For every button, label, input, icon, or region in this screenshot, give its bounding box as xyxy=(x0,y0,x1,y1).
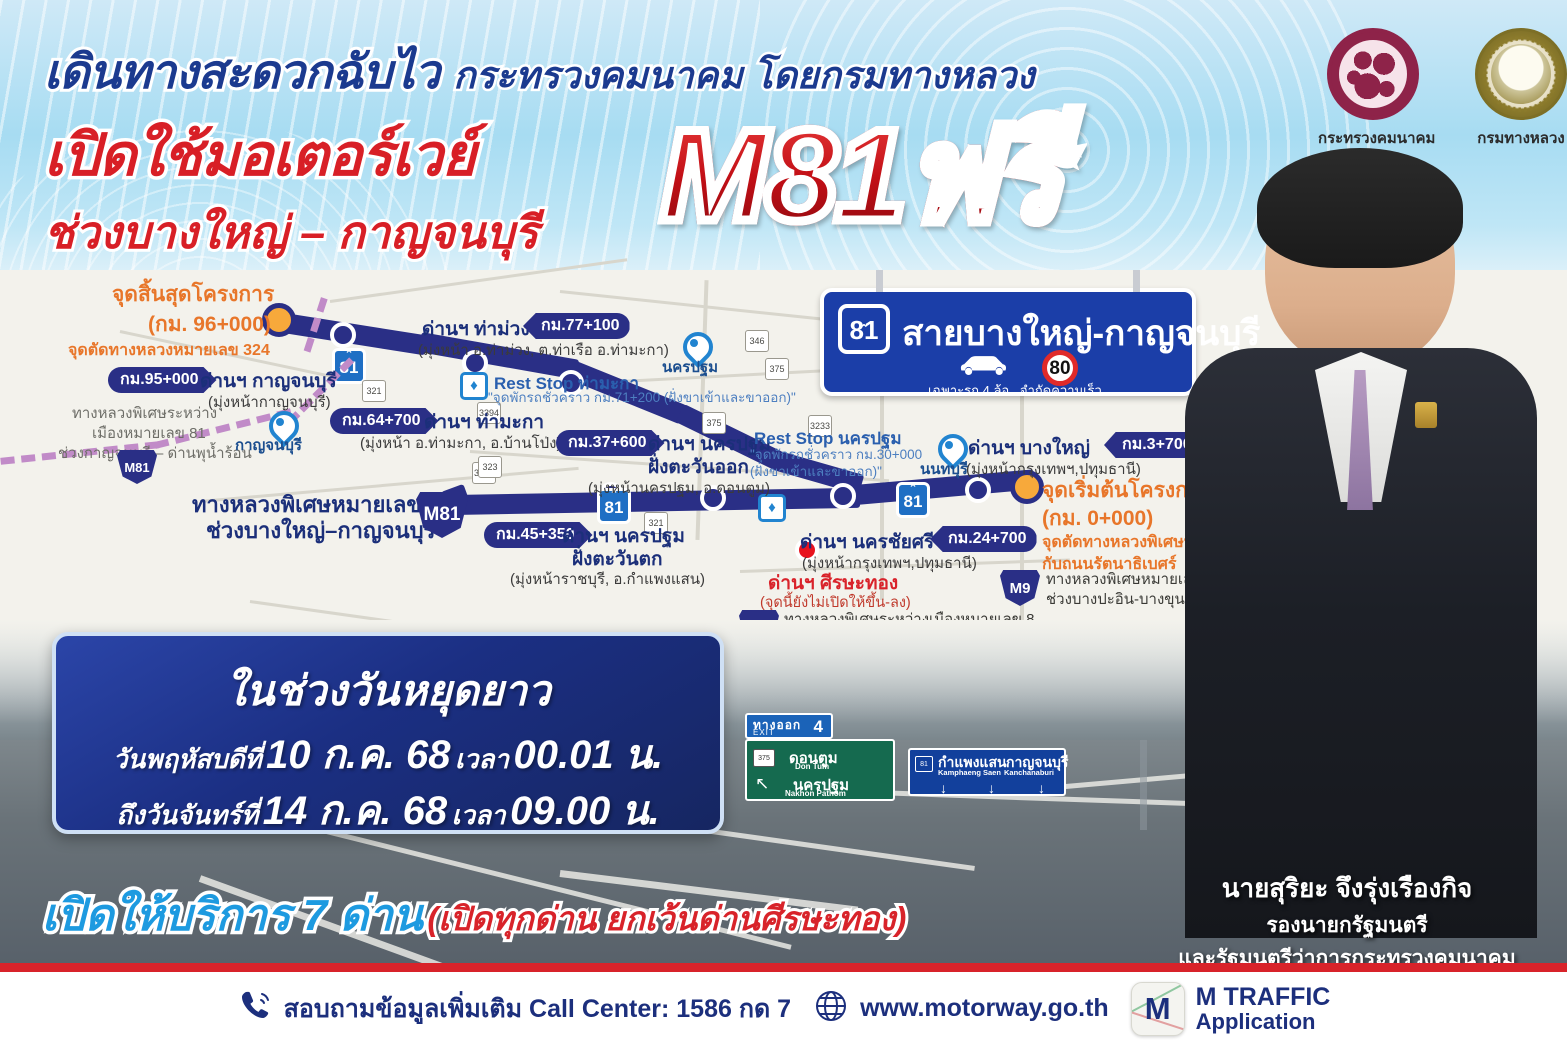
open-gates-note-text: (เปิดทุกด่าน ยกเว้นด่านศีรษะทอง) xyxy=(427,900,906,937)
green-sign-dest2-en: Nakhon Pathom xyxy=(785,789,846,798)
city-label-kanchanaburi: กาญจนบุรี xyxy=(235,433,302,457)
m81-main-title-2: ช่วงบางใหญ่–กาญจนบุรี xyxy=(206,518,435,544)
toll-gate-node-kanchanaburi xyxy=(330,322,356,348)
down-arrow-icon: ↓ xyxy=(940,780,947,796)
project-end-km: (กม. 96+000) xyxy=(148,308,271,341)
blue-sign-dest2-en: Kanchanaburi xyxy=(1004,768,1054,777)
blue-sign-route-badge: 81 xyxy=(915,756,933,772)
website-item[interactable]: www.motorway.go.th xyxy=(813,988,1109,1029)
date-row2-prefix: ถึงวันจันทร์ที่ xyxy=(116,800,258,830)
rest-stop-detail-nakhon-pathom-2: (ฝั่งขาเข้าและขาออก)" xyxy=(750,464,882,481)
logo-department-of-highways: กรมทางหลวง xyxy=(1466,28,1567,150)
down-arrow-icon: ↓ xyxy=(988,780,995,796)
city-label-nakhon-pathom: นครปฐม xyxy=(662,355,718,379)
date-row1-time: 00.01 น. xyxy=(513,733,663,777)
minister-caption: นายสุริยะ จึงรุ่งเรืองกิจ รองนายกรัฐมนตร… xyxy=(1147,868,1547,975)
open-gates-main-text: เปิดให้บริการ 7 ด่าน xyxy=(42,891,423,940)
minister-portrait xyxy=(1147,140,1567,930)
m-traffic-app-label: M TRAFFIC Application xyxy=(1196,984,1331,1033)
gantry-post xyxy=(1140,740,1147,830)
date-box-headline: ในช่วงวันหยุดยาว xyxy=(56,658,720,724)
down-arrow-icon: ↓ xyxy=(1038,780,1045,796)
project-end-title: จุดสิ้นสุดโครงการ xyxy=(112,278,274,311)
toll-gate-sub-nakhon-pathom-west: (มุ่งหน้าราชบุรี, อ.กำแพงแสน) xyxy=(510,567,705,591)
portrait-lapel-pin-icon xyxy=(1415,402,1437,428)
date-row1-date: 10 ก.ค. 68 xyxy=(266,733,450,777)
globe-icon xyxy=(813,988,849,1029)
footer-bar: สอบถามข้อมูลเพิ่มเติม Call Center: 1586 … xyxy=(0,972,1567,1045)
ministry-line-text: กระทรวงคมนาคม โดยกรมทางหลวง xyxy=(453,46,1034,105)
m81-extension-note-1: ทางหลวงพิเศษระหว่าง xyxy=(72,405,217,424)
open-gates-banner: เปิดให้บริการ 7 ด่าน (เปิดทุกด่าน ยกเว้น… xyxy=(42,880,906,950)
toll-gate-sub-tha-maka: (มุ่งหน้า อ.ท่ามะกา, อ.บ้านโป่ง) xyxy=(360,431,561,455)
date-box-row-1: วันพฤหัสบดีที่ 10 ก.ค. 68 เวลา 00.01 น. xyxy=(56,722,720,786)
exit-tab-number: 4 xyxy=(814,717,823,737)
blue-sign-dest1-en: Kamphaeng Saen xyxy=(938,768,1001,777)
date-row2-time: 09.00 น. xyxy=(510,789,660,833)
toll-gate-node-nakhon-chai-si xyxy=(830,483,856,509)
logo-group: กระทรวงคมนาคม กรมทางหลวง xyxy=(1318,28,1567,150)
headline-m81-free: M81ฟรี xyxy=(660,110,1060,240)
route-number-badge: 346 xyxy=(745,330,769,352)
m81-shield-extension: M81 xyxy=(117,450,157,484)
route-number-badge: 375 xyxy=(765,358,789,380)
holiday-period-box: ในช่วงวันหยุดยาว วันพฤหัสบดีที่ 10 ก.ค. … xyxy=(52,632,724,834)
project-end-detail: จุดตัดทางหลวงหมายเลข 324 xyxy=(68,338,270,363)
logo-ministry-of-transport: กระทรวงคมนาคม xyxy=(1318,28,1428,150)
m-traffic-app-icon: M xyxy=(1131,982,1185,1036)
city-label-nonthaburi: นนทบุรี xyxy=(920,457,968,481)
car-icon xyxy=(956,354,1010,378)
km-tag-tha-muang: กม.77+100 xyxy=(523,313,630,339)
phone-icon xyxy=(237,988,273,1029)
up-left-arrow-icon: ↖ xyxy=(755,774,769,794)
blue-direction-sign: 81 กำแพงแสน Kamphaeng Saen กาญจนบุรี Kan… xyxy=(908,748,1066,796)
rest-stop-detail-tha-maka: "จุดพักรถชั่วคราว กม.71+200 (ฝั่งขาเข้าแ… xyxy=(488,390,796,407)
m9-shield-north: M9 xyxy=(1000,570,1040,606)
date-row2-date: 14 ก.ค. 68 xyxy=(263,789,447,833)
route-info-sign: 81 สายบางใหญ่-กาญจนบุรี 80 เฉพาะรถ 4 ล้อ… xyxy=(820,288,1196,396)
toll-gate-sub-tha-muang: (มุ่งหน้า อ.ท่าม่วง, ต.ท่าเรือ อ.ท่ามะกา… xyxy=(418,338,669,362)
date-box-row-2: ถึงวันจันทร์ที่ 14 ก.ค. 68 เวลา 09.00 น. xyxy=(56,778,720,842)
tagline-text: เดินทางสะดวกฉับไว xyxy=(44,34,439,109)
call-center-item[interactable]: สอบถามข้อมูลเพิ่มเติม Call Center: 1586 … xyxy=(237,988,791,1029)
call-center-text: สอบถามข้อมูลเพิ่มเติม Call Center: 1586 … xyxy=(284,989,791,1029)
route-number-badge: 321 xyxy=(362,380,386,402)
date-row1-prefix: วันพฤหัสบดีที่ xyxy=(113,744,262,774)
poster-root: เดินทางสะดวกฉับไว กระทรวงคมนาคม โดยกรมทา… xyxy=(0,0,1567,1045)
portrait-hair xyxy=(1257,148,1463,268)
headline-line-3: ช่วงบางใหญ่ – กาญจนบุรี xyxy=(44,196,538,268)
app-icon-letter: M xyxy=(1145,991,1171,1027)
m81-extension-note-2: เมืองหมายเลข 81 xyxy=(92,425,206,444)
route-sign-speed-caption: จำกัดความเร็ว xyxy=(1020,380,1102,401)
green-sign-dest1-en: Don Tum xyxy=(795,762,829,771)
green-direction-sign: 375 ดอนตูม Don Tum ↖ นครปฐม Nakhon Patho… xyxy=(745,739,895,801)
app-label-line-1: M TRAFFIC xyxy=(1196,984,1331,1010)
date-row1-mid: เวลา xyxy=(455,744,509,774)
rest-stop-detail-nakhon-pathom: "จุดพักรถชั่วคราว กม.30+000 xyxy=(750,447,922,464)
route-number-badge: 323 xyxy=(478,456,502,478)
toll-gate-sub-nakhon-pathom-east: (มุ่งหน้านครปฐม, อ.ดอนตูม) xyxy=(588,476,770,500)
ministry-of-transport-seal-icon xyxy=(1327,28,1419,120)
rest-stop-icon: ♦ xyxy=(460,372,488,400)
app-label-line-2: Application xyxy=(1196,1010,1331,1033)
route-sign-shield-81: 81 xyxy=(838,304,890,354)
exit-tab-eng: EXIT xyxy=(753,728,775,737)
route-shield-81: 81 xyxy=(896,482,930,518)
date-row2-mid: เวลา xyxy=(452,800,506,830)
headline-line-2: เปิดใช้มอเตอร์เวย์ xyxy=(44,108,475,201)
exit-tab-sign: ทางออก EXIT 4 xyxy=(745,713,833,739)
minister-role-1: รองนายกรัฐมนตรี xyxy=(1147,909,1547,942)
minister-name: นายสุริยะ จึงรุ่งเรืองกิจ xyxy=(1147,868,1547,909)
green-sign-route-badge: 375 xyxy=(753,749,775,767)
website-text: www.motorway.go.th xyxy=(860,994,1109,1023)
m81-main-title-1: ทางหลวงพิเศษหมายเลข 81 xyxy=(192,492,452,518)
department-of-highways-seal-icon xyxy=(1475,28,1567,120)
route-sign-vehicle-caption: เฉพาะรถ 4 ล้อ xyxy=(928,380,1009,401)
headline-line-1: เดินทางสะดวกฉับไว กระทรวงคมนาคม โดยกรมทา… xyxy=(44,34,1035,109)
km-tag-nakhon-chai-si: กม.24+700 xyxy=(930,526,1037,552)
m-traffic-app-item[interactable]: M M TRAFFIC Application xyxy=(1131,982,1331,1036)
red-divider xyxy=(0,963,1567,972)
